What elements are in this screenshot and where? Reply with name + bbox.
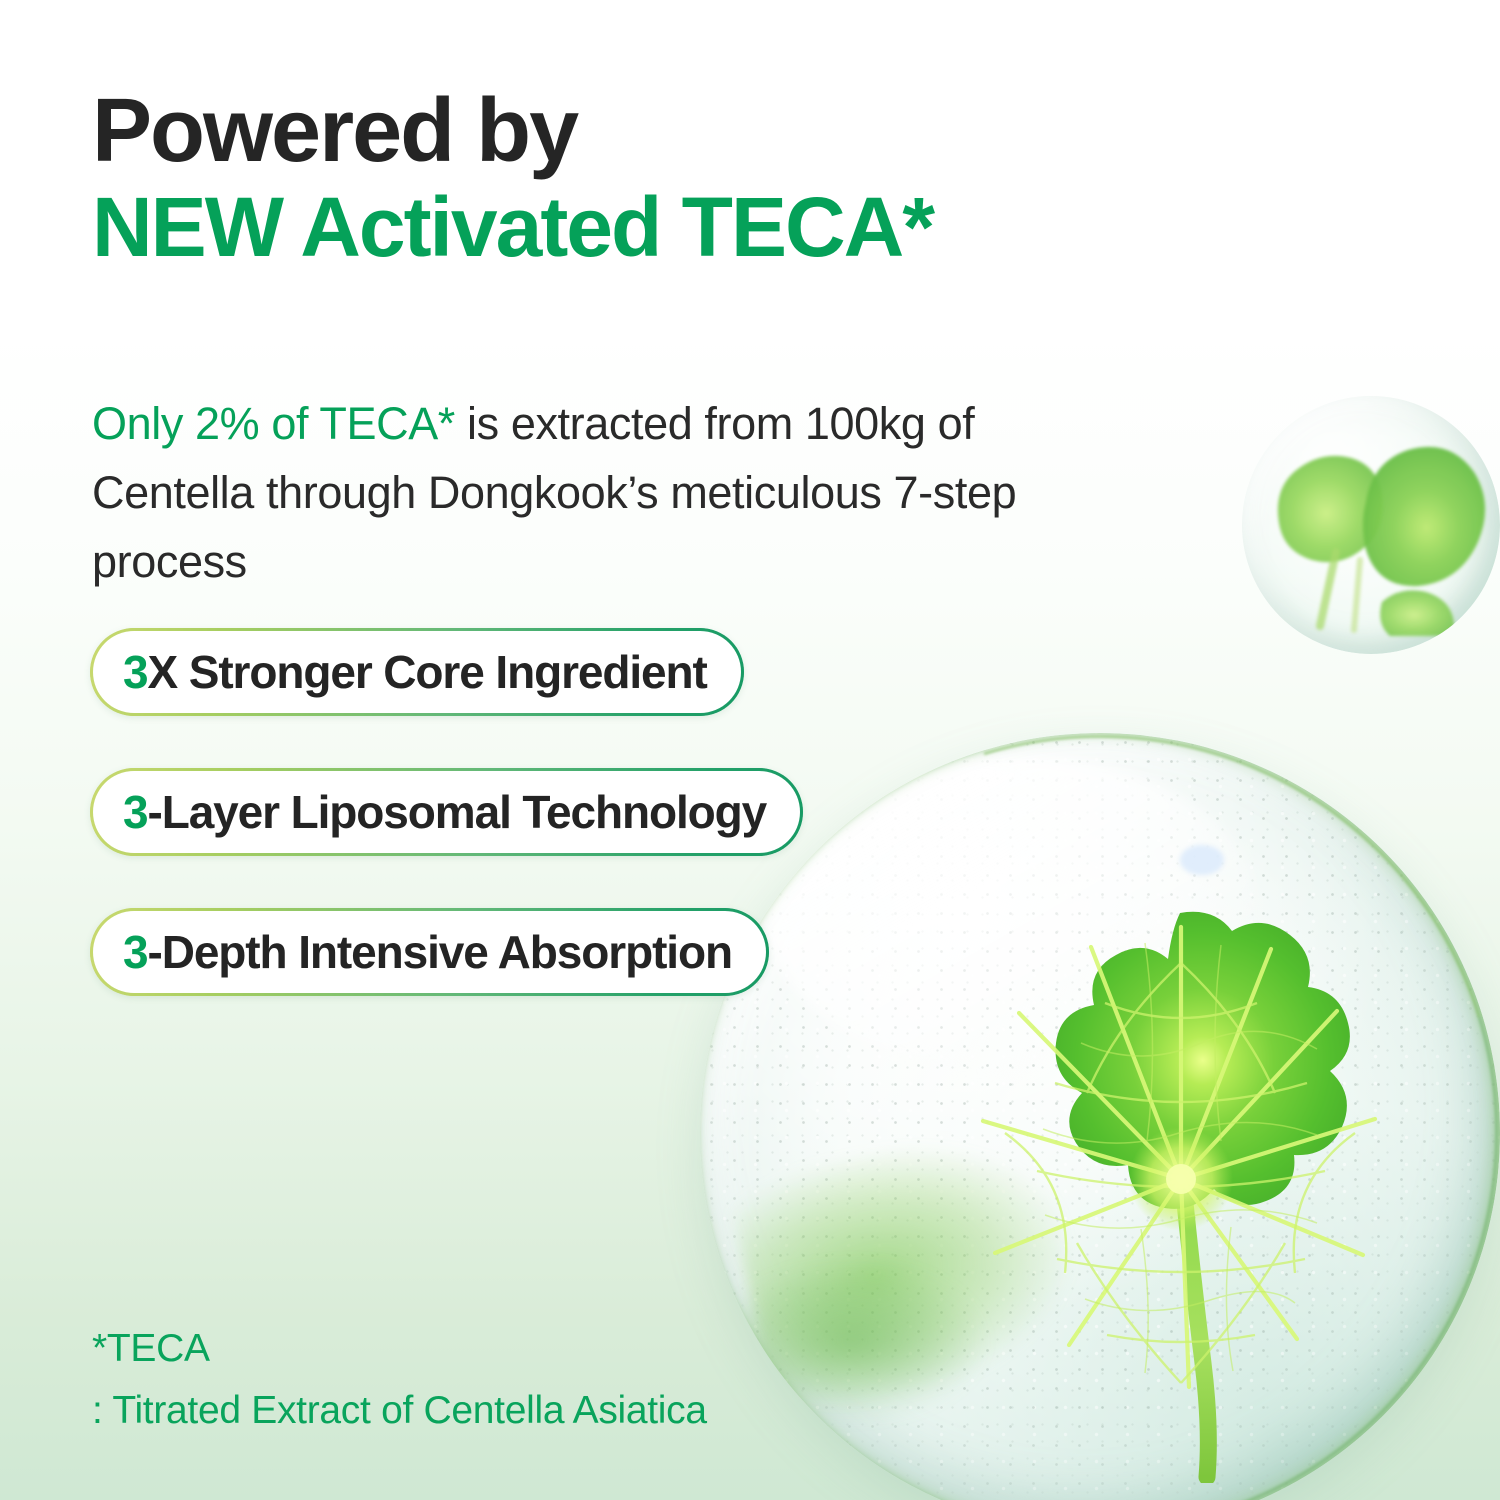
centella-leaf-icon-small xyxy=(1250,420,1492,636)
feature-pill-2-text: 3-Layer Liposomal Technology xyxy=(123,789,766,835)
page-title: Powered by NEW Activated TECA* xyxy=(92,84,1412,277)
product-feature-poster: Powered by NEW Activated TECA* Only 2% o… xyxy=(0,0,1500,1500)
water-droplet-small xyxy=(1242,396,1500,654)
headline-line-2: NEW Activated TECA* xyxy=(92,179,1412,276)
feature-pill-3-number: 3 xyxy=(123,926,147,978)
feature-pill-3-text: 3-Depth Intensive Absorption xyxy=(123,929,732,975)
feature-pill-1-label: X Stronger Core Ingredient xyxy=(147,646,706,698)
feature-pill-2-number: 3 xyxy=(123,786,147,838)
feature-pill-1[interactable]: 3X Stronger Core Ingredient xyxy=(90,628,744,716)
feature-pill-1-number: 3 xyxy=(123,646,147,698)
feature-list: 3X Stronger Core Ingredient 3-Layer Lipo… xyxy=(90,628,803,1048)
centella-leaf-icon-main xyxy=(945,883,1415,1483)
feature-pill-2-label: -Layer Liposomal Technology xyxy=(147,786,766,838)
feature-pill-2[interactable]: 3-Layer Liposomal Technology xyxy=(90,768,803,856)
water-droplet-main xyxy=(700,733,1500,1500)
headline-line-1: Powered by xyxy=(92,84,1412,179)
feature-pill-3-inner: 3-Depth Intensive Absorption xyxy=(91,909,768,995)
footnote-term: *TECA xyxy=(92,1318,707,1380)
feature-pill-2-inner: 3-Layer Liposomal Technology xyxy=(91,769,802,855)
feature-pill-3-label: -Depth Intensive Absorption xyxy=(147,926,732,978)
subheading-paragraph: Only 2% of TECA* is extracted from 100kg… xyxy=(92,390,1052,597)
footnote-definition: : Titrated Extract of Centella Asiatica xyxy=(92,1380,707,1442)
footnote: *TECA : Titrated Extract of Centella Asi… xyxy=(92,1318,707,1441)
feature-pill-1-inner: 3X Stronger Core Ingredient xyxy=(91,629,743,715)
feature-pill-1-text: 3X Stronger Core Ingredient xyxy=(123,649,707,695)
subheading-highlight: Only 2% of TECA* xyxy=(92,398,455,449)
feature-pill-3[interactable]: 3-Depth Intensive Absorption xyxy=(90,908,769,996)
